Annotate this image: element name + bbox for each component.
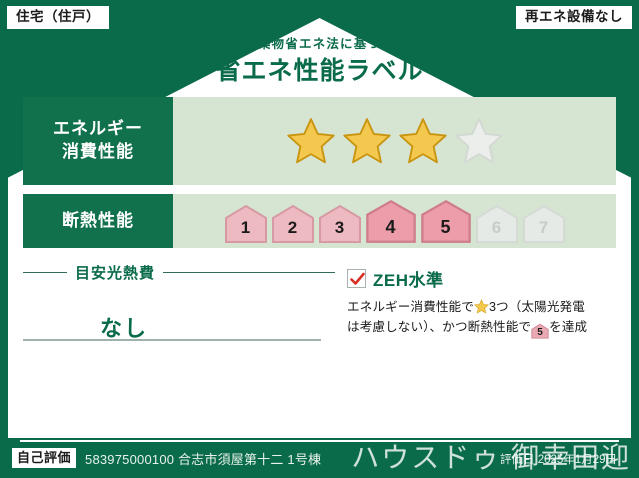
insulation-level-number: 3 — [335, 218, 344, 244]
insulation-level-2: 2 — [271, 204, 315, 244]
inline-level-badge: 5 — [531, 323, 549, 339]
utility-cost-block: 目安光熱費 なし — [23, 258, 335, 343]
energy-label-card: 住宅（住戸） 再エネ設備なし 建築物省エネ法に基づく 省エネ性能ラベル エネルギ… — [0, 0, 639, 478]
energy-label-line1: エネルギー — [53, 118, 143, 141]
tag-renewable-equipment: 再エネ設備なし — [516, 6, 632, 29]
inline-star-icon — [474, 299, 489, 314]
self-evaluation-badge: 自己評価 — [12, 448, 76, 468]
insulation-level-number: 6 — [492, 218, 501, 244]
zeh-block: ZEH水準 エネルギー消費性能で 3つ（太陽光発電 は考慮しない）、かつ断熱性能… — [335, 258, 616, 343]
star-rating — [286, 116, 504, 166]
cost-rule-right — [163, 272, 335, 273]
star-filled-icon — [286, 116, 336, 166]
lower-section: 目安光熱費 なし ZEH水準 エネルギー消費性能で — [23, 258, 616, 343]
utility-cost-title: 目安光熱費 — [75, 262, 155, 283]
label-title-block: 建築物省エネ法に基づく 省エネ性能ラベル — [0, 38, 639, 85]
utility-cost-heading: 目安光熱費 — [23, 262, 335, 283]
insulation-label-text: 断熱性能 — [62, 210, 134, 233]
insulation-level-3: 3 — [318, 204, 362, 244]
tag-building-type: 住宅（住戸） — [7, 6, 109, 29]
cost-rule-left — [23, 272, 67, 273]
insulation-performance-row: 断熱性能 1234567 — [23, 194, 616, 248]
insulation-performance-value: 1234567 — [173, 194, 616, 248]
footer-property-info: 583975000100 合志市須屋第十二 1号棟 — [85, 449, 321, 468]
zeh-desc-part-a: エネルギー消費性能で — [347, 300, 474, 314]
zeh-desc-part-c: は考慮しない）、かつ断熱性能で — [347, 320, 531, 334]
footer-bar: 自己評価 583975000100 合志市須屋第十二 1号棟 評価日 2025年… — [0, 438, 639, 478]
footer-top-rule — [20, 440, 619, 442]
insulation-level-1: 1 — [224, 204, 268, 244]
insulation-level-number: 2 — [288, 218, 297, 244]
zeh-desc-part-b: 3つ（太陽光発電 — [489, 300, 585, 314]
energy-performance-label: エネルギー 消費性能 — [23, 97, 173, 185]
insulation-level-7: 7 — [522, 204, 566, 244]
footer-evaluation-date: 評価日 2025年1月29日 — [500, 451, 617, 467]
insulation-level-number: 5 — [440, 217, 450, 244]
star-filled-icon — [398, 116, 448, 166]
insulation-level-number: 7 — [539, 218, 548, 244]
zeh-heading: ZEH水準 — [347, 266, 616, 291]
zeh-desc-part-d: を達成 — [549, 320, 587, 334]
star-filled-icon — [342, 116, 392, 166]
label-content: エネルギー 消費性能 断熱性能 1234567 目安光熱費 — [23, 97, 616, 426]
zeh-title: ZEH水準 — [373, 266, 444, 291]
zeh-description: エネルギー消費性能で 3つ（太陽光発電 は考慮しない）、かつ断熱性能で 5 を達… — [347, 298, 616, 339]
cost-divider-line — [23, 339, 321, 341]
inline-level-number: 5 — [531, 323, 549, 342]
insulation-level-6: 6 — [475, 204, 519, 244]
energy-label-line2: 消費性能 — [62, 141, 134, 164]
insulation-level-number: 4 — [385, 217, 395, 244]
insulation-level-4: 4 — [365, 199, 417, 244]
star-empty-icon — [454, 116, 504, 166]
title-subtitle: 建築物省エネ法に基づく — [0, 38, 639, 51]
zeh-checkbox[interactable] — [347, 269, 366, 288]
insulation-level-5: 5 — [420, 199, 472, 244]
insulation-level-scale: 1234567 — [224, 199, 566, 244]
page-title: 省エネ性能ラベル — [0, 57, 639, 86]
energy-performance-row: エネルギー 消費性能 — [23, 97, 616, 185]
insulation-performance-label: 断熱性能 — [23, 194, 173, 248]
insulation-level-number: 1 — [241, 218, 250, 244]
energy-performance-value — [173, 97, 616, 185]
